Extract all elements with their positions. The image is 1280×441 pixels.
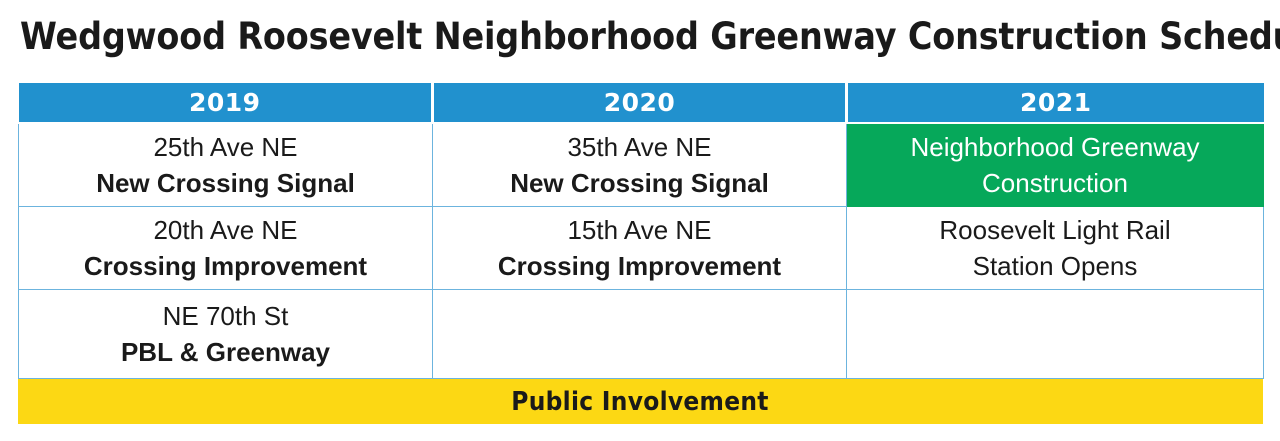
cell-activity: Crossing Improvement <box>25 248 426 284</box>
cell-activity: Crossing Improvement <box>439 248 840 284</box>
cell-activity: New Crossing Signal <box>25 165 426 201</box>
schedule-body: 25th Ave NE New Crossing Signal 35th Ave… <box>19 123 1264 378</box>
schedule-cell-2021-1-highlight: Neighborhood Greenway Construction <box>847 123 1264 206</box>
cell-location: 25th Ave NE <box>25 129 426 165</box>
cell-milestone-line2: Station Opens <box>853 248 1257 284</box>
table-row: 20th Ave NE Crossing Improvement 15th Av… <box>19 206 1264 289</box>
schedule-cell-2019-1: 25th Ave NE New Crossing Signal <box>19 123 433 206</box>
schedule-cell-2020-1: 35th Ave NE New Crossing Signal <box>433 123 847 206</box>
cell-activity-line1: Neighborhood Greenway <box>853 129 1257 165</box>
column-header-2019: 2019 <box>19 83 433 123</box>
cell-activity-line2: Construction <box>853 165 1257 201</box>
cell-location: 20th Ave NE <box>25 212 426 248</box>
schedule-cell-2020-3-empty <box>433 289 847 378</box>
cell-milestone-line1: Roosevelt Light Rail <box>853 212 1257 248</box>
public-involvement-banner: Public Involvement <box>18 379 1263 424</box>
schedule-cell-2021-2: Roosevelt Light Rail Station Opens <box>847 206 1264 289</box>
table-row: 25th Ave NE New Crossing Signal 35th Ave… <box>19 123 1264 206</box>
column-header-2021: 2021 <box>847 83 1264 123</box>
schedule-cell-2021-3-empty <box>847 289 1264 378</box>
column-header-2020: 2020 <box>433 83 847 123</box>
schedule-infographic: Wedgwood Roosevelt Neighborhood Greenway… <box>0 0 1280 441</box>
page-title: Wedgwood Roosevelt Neighborhood Greenway… <box>20 14 1142 62</box>
cell-activity: PBL & Greenway <box>25 334 426 370</box>
cell-location: 35th Ave NE <box>439 129 840 165</box>
schedule-cell-2019-2: 20th Ave NE Crossing Improvement <box>19 206 433 289</box>
schedule-cell-2019-3: NE 70th St PBL & Greenway <box>19 289 433 378</box>
schedule-grid: 2019 2020 2021 25th Ave NE New Crossing … <box>18 83 1264 379</box>
table-row: NE 70th St PBL & Greenway <box>19 289 1264 378</box>
schedule-header-row: 2019 2020 2021 <box>19 83 1264 123</box>
cell-activity: New Crossing Signal <box>439 165 840 201</box>
cell-location: NE 70th St <box>25 298 426 334</box>
construction-schedule-table: 2019 2020 2021 25th Ave NE New Crossing … <box>18 83 1263 424</box>
cell-location: 15th Ave NE <box>439 212 840 248</box>
public-involvement-label: Public Involvement <box>512 387 769 417</box>
schedule-cell-2020-2: 15th Ave NE Crossing Improvement <box>433 206 847 289</box>
